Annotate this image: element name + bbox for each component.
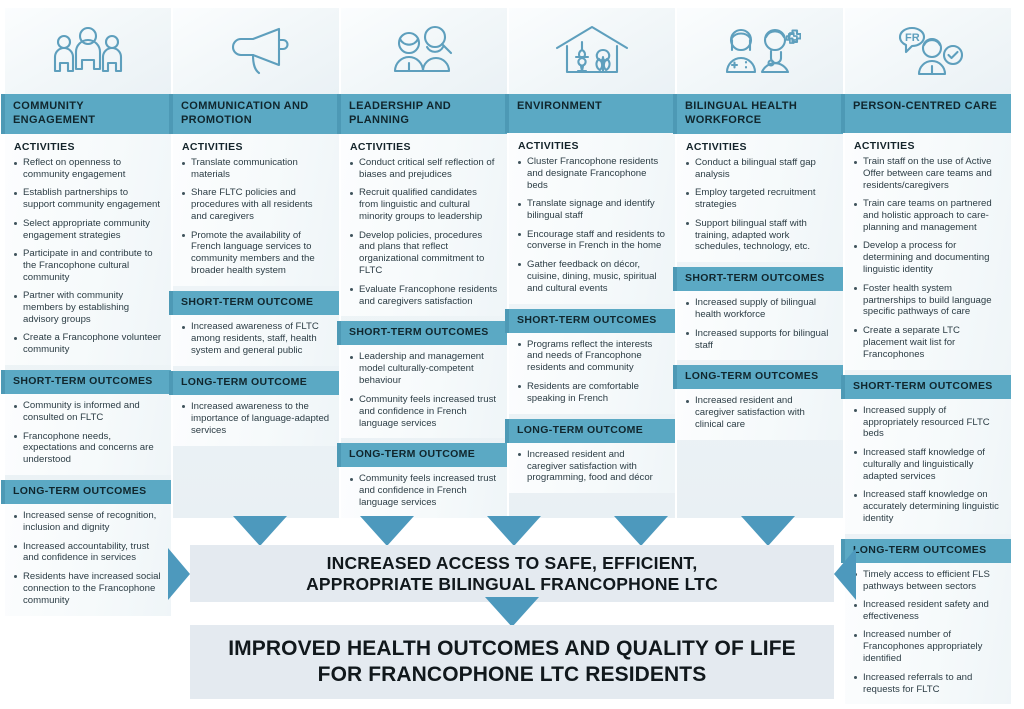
section-body-community-engagement-2: Increased sense of recognition, inclusio… (5, 504, 171, 615)
section-body-communication-and-promotion-1: Increased awareness of FLTC among reside… (173, 315, 339, 366)
improved-banner-line1: IMPROVED HEALTH OUTCOMES AND QUALITY OF … (228, 636, 796, 662)
column-title-leadership-and-planning: LEADERSHIP AND PLANNING (341, 94, 507, 134)
list-item: Residents are comfortable speaking in Fr… (517, 381, 666, 405)
list-item: Select appropriate community engagement … (13, 218, 162, 242)
list-item: Increased number of Francophones appropr… (853, 629, 1002, 665)
section-body-person-centred-care-2: Timely access to efficient FLS pathways … (845, 563, 1011, 705)
list-item: Programs reflect the interests and needs… (517, 339, 666, 375)
list-item: Increased supply of appropriately resour… (853, 405, 1002, 441)
item-list: Community is informed and consulted on F… (13, 400, 162, 466)
section-activities-communication-and-promotion: ACTIVITIESTranslate communication materi… (173, 134, 339, 286)
column-communication-and-promotion: COMMUNICATION AND PROMOTIONACTIVITIESTra… (173, 8, 339, 518)
list-item: Partner with community members by establ… (13, 290, 162, 326)
megaphone-icon (173, 8, 339, 94)
arrow-down-col4 (614, 516, 668, 546)
list-item: Develop a process for determining and do… (853, 240, 1002, 276)
column-leadership-and-planning: LEADERSHIP AND PLANNINGACTIVITIESConduct… (341, 8, 507, 518)
section-header-leadership-and-planning-2: LONG-TERM OUTCOME (341, 443, 507, 467)
list-item: Establish partnerships to support commun… (13, 187, 162, 211)
section-body-person-centred-care-1: Increased supply of appropriately resour… (845, 399, 1011, 534)
section-label: ACTIVITIES (854, 140, 1002, 152)
section-label: ACTIVITIES (14, 141, 162, 153)
improved-health-outcomes-banner: IMPROVED HEALTH OUTCOMES AND QUALITY OF … (190, 625, 834, 699)
list-item: Share FLTC policies and procedures with … (181, 187, 330, 223)
arrow-down-col3 (487, 516, 541, 546)
item-list: Translate communication materialsShare F… (181, 157, 330, 277)
section-activities-bilingual-health-workforce: ACTIVITIESConduct a bilingual staff gap … (677, 134, 843, 262)
list-item: Support bilingual staff with training, a… (685, 218, 834, 254)
item-list: Increased awareness of FLTC among reside… (181, 321, 330, 357)
section-header-environment-1: SHORT-TERM OUTCOMES (509, 309, 675, 333)
logic-model-board: COMMUNITY ENGAGEMENTACTIVITIESReflect on… (0, 0, 1024, 709)
section-label: ACTIVITIES (350, 141, 498, 153)
list-item: Residents have increased social connecti… (13, 571, 162, 607)
list-item: Timely access to efficient FLS pathways … (853, 569, 1002, 593)
arrow-down-col2 (360, 516, 414, 546)
item-list: Increased supply of bilingual health wor… (685, 297, 834, 351)
section-label: ACTIVITIES (182, 141, 330, 153)
arrow-down-col1 (233, 516, 287, 546)
list-item: Employ targeted recruitment strategies (685, 187, 834, 211)
increased-access-banner: INCREASED ACCESS TO SAFE, EFFICIENT, APP… (190, 545, 834, 602)
item-list: Train staff on the use of Active Offer b… (853, 156, 1002, 361)
section-activities-community-engagement: ACTIVITIESReflect on openness to communi… (5, 134, 171, 365)
list-item: Increased accountability, trust and conf… (13, 541, 162, 565)
svg-text:FR: FR (905, 32, 920, 44)
section-body-community-engagement-1: Community is informed and consulted on F… (5, 394, 171, 475)
section-body-leadership-and-planning-2: Community feels increased trust and conf… (341, 467, 507, 518)
list-item: Increased sense of recognition, inclusio… (13, 510, 162, 534)
list-item: Translate signage and identify bilingual… (517, 198, 666, 222)
list-item: Develop policies, procedures and plans t… (349, 230, 498, 278)
column-community-engagement: COMMUNITY ENGAGEMENTACTIVITIESReflect on… (5, 8, 171, 588)
list-item: Participate in and contribute to the Fra… (13, 248, 162, 284)
item-list: Programs reflect the interests and needs… (517, 339, 666, 405)
item-list: Increased resident and caregiver satisfa… (685, 395, 834, 431)
column-bilingual-health-workforce: BILINGUAL HEALTH WORKFORCEACTIVITIESCond… (677, 8, 843, 518)
fr-speech-bubble-person-check-icon: FR (845, 8, 1011, 94)
access-banner-line1: INCREASED ACCESS TO SAFE, EFFICIENT, (306, 553, 718, 574)
list-item: Gather feedback on décor, cuisine, dinin… (517, 259, 666, 295)
list-item: Create a Francophone volunteer community (13, 332, 162, 356)
list-item: Conduct critical self reflection of bias… (349, 157, 498, 181)
list-item: Increased resident and caregiver satisfa… (517, 449, 666, 485)
column-environment: ENVIRONMENTACTIVITIESCluster Francophone… (509, 8, 675, 518)
list-item: Train staff on the use of Active Offer b… (853, 156, 1002, 192)
nurse-and-doctor-icon (677, 8, 843, 94)
section-body-bilingual-health-workforce-1: Increased supply of bilingual health wor… (677, 291, 843, 360)
arrow-right-into-access-banner (168, 548, 190, 600)
item-list: Community feels increased trust and conf… (349, 473, 498, 509)
section-header-bilingual-health-workforce-1: SHORT-TERM OUTCOMES (677, 267, 843, 291)
list-item: Increased supply of bilingual health wor… (685, 297, 834, 321)
section-header-community-engagement-2: LONG-TERM OUTCOMES (5, 480, 171, 504)
list-item: Increased resident and caregiver satisfa… (685, 395, 834, 431)
section-activities-environment: ACTIVITIESCluster Francophone residents … (509, 133, 675, 304)
list-item: Community feels increased trust and conf… (349, 473, 498, 509)
list-item: Increased awareness of FLTC among reside… (181, 321, 330, 357)
list-item: Increased resident safety and effectiven… (853, 599, 1002, 623)
section-header-communication-and-promotion-2: LONG-TERM OUTCOME (173, 371, 339, 395)
house-fleur-de-lis-trillium-icon (509, 8, 675, 94)
item-list: Increased resident and caregiver satisfa… (517, 449, 666, 485)
improved-banner-line2: FOR FRANCOPHONE LTC RESIDENTS (228, 662, 796, 688)
section-body-environment-2: Increased resident and caregiver satisfa… (509, 443, 675, 494)
list-item: Conduct a bilingual staff gap analysis (685, 157, 834, 181)
arrow-left-into-access-banner (834, 548, 856, 600)
section-body-environment-1: Programs reflect the interests and needs… (509, 333, 675, 414)
section-header-leadership-and-planning-1: SHORT-TERM OUTCOMES (341, 321, 507, 345)
list-item: Train care teams on partnered and holist… (853, 198, 1002, 234)
list-item: Increased staff knowledge of culturally … (853, 447, 1002, 483)
item-list: Increased sense of recognition, inclusio… (13, 510, 162, 606)
list-item: Community feels increased trust and conf… (349, 394, 498, 430)
three-people-icon (5, 8, 171, 94)
arrow-down-col5 (741, 516, 795, 546)
list-item: Community is informed and consulted on F… (13, 400, 162, 424)
list-item: Francophone needs, expectations and conc… (13, 431, 162, 467)
list-item: Increased staff knowledge on accurately … (853, 489, 1002, 525)
list-item: Cluster Francophone residents and design… (517, 156, 666, 192)
list-item: Recruit qualified candidates from lingui… (349, 187, 498, 223)
list-item: Translate communication materials (181, 157, 330, 181)
item-list: Cluster Francophone residents and design… (517, 156, 666, 295)
section-header-community-engagement-1: SHORT-TERM OUTCOMES (5, 370, 171, 394)
section-label: ACTIVITIES (686, 141, 834, 153)
column-title-community-engagement: COMMUNITY ENGAGEMENT (5, 94, 171, 134)
item-list: Reflect on openness to community engagem… (13, 157, 162, 356)
item-list: Timely access to efficient FLS pathways … (853, 569, 1002, 696)
item-list: Leadership and management model cultural… (349, 351, 498, 429)
section-activities-person-centred-care: ACTIVITIESTrain staff on the use of Acti… (845, 133, 1011, 370)
item-list: Conduct critical self reflection of bias… (349, 157, 498, 307)
section-header-person-centred-care-2: LONG-TERM OUTCOMES (845, 539, 1011, 563)
leadership-search-people-icon (341, 8, 507, 94)
item-list: Increased awareness to the importance of… (181, 401, 330, 437)
section-body-communication-and-promotion-2: Increased awareness to the importance of… (173, 395, 339, 446)
section-header-person-centred-care-1: SHORT-TERM OUTCOMES (845, 375, 1011, 399)
section-body-bilingual-health-workforce-2: Increased resident and caregiver satisfa… (677, 389, 843, 440)
item-list: Conduct a bilingual staff gap analysisEm… (685, 157, 834, 253)
section-label: ACTIVITIES (518, 140, 666, 152)
list-item: Increased supports for bilingual staff (685, 328, 834, 352)
list-item: Evaluate Francophone residents and careg… (349, 284, 498, 308)
arrow-down-to-improved-banner (485, 597, 539, 627)
list-item: Promote the availability of French langu… (181, 230, 330, 278)
item-list: Increased supply of appropriately resour… (853, 405, 1002, 525)
list-item: Leadership and management model cultural… (349, 351, 498, 387)
section-header-environment-2: LONG-TERM OUTCOME (509, 419, 675, 443)
list-item: Increased awareness to the importance of… (181, 401, 330, 437)
column-person-centred-care: FR PERSON-CENTRED CAREACTIVITIESTrain st… (845, 8, 1011, 701)
column-title-environment: ENVIRONMENT (509, 94, 675, 133)
list-item: Increased referrals to and requests for … (853, 672, 1002, 696)
section-header-bilingual-health-workforce-2: LONG-TERM OUTCOMES (677, 365, 843, 389)
section-header-communication-and-promotion-1: SHORT-TERM OUTCOME (173, 291, 339, 315)
list-item: Create a separate LTC placement wait lis… (853, 325, 1002, 361)
list-item: Reflect on openness to community engagem… (13, 157, 162, 181)
column-title-communication-and-promotion: COMMUNICATION AND PROMOTION (173, 94, 339, 134)
section-activities-leadership-and-planning: ACTIVITIESConduct critical self reflecti… (341, 134, 507, 316)
column-title-person-centred-care: PERSON-CENTRED CARE (845, 94, 1011, 133)
access-banner-line2: APPROPRIATE BILINGUAL FRANCOPHONE LTC (306, 574, 718, 595)
column-title-bilingual-health-workforce: BILINGUAL HEALTH WORKFORCE (677, 94, 843, 134)
list-item: Encourage staff and residents to convers… (517, 229, 666, 253)
section-body-leadership-and-planning-1: Leadership and management model cultural… (341, 345, 507, 438)
list-item: Foster health system partnerships to bui… (853, 283, 1002, 319)
